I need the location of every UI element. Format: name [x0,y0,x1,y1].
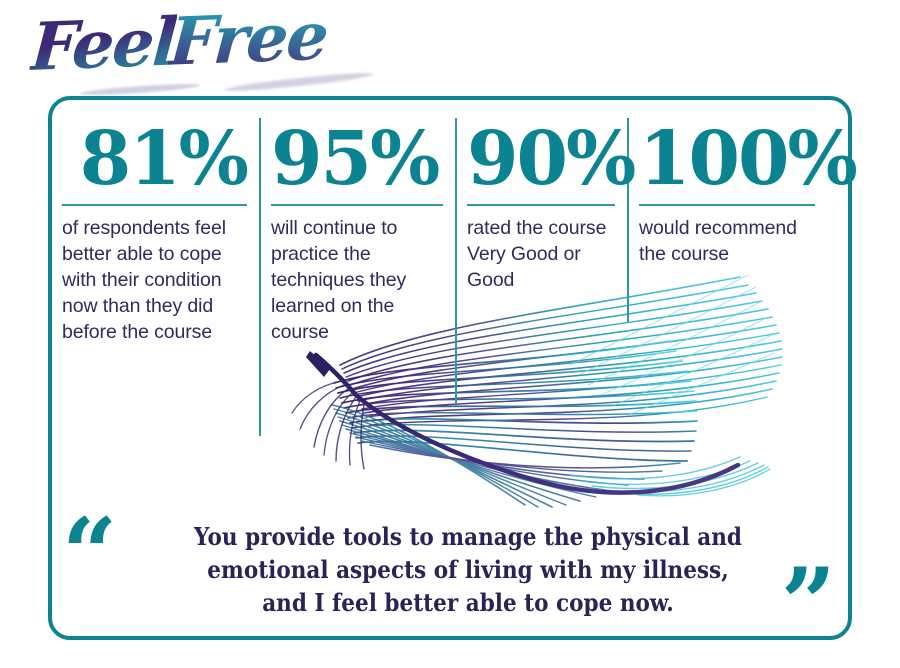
logo-word-feel: Feel [28,3,178,86]
stat-rule-4 [639,204,815,206]
stat-card-4: 100% would recommend the course [627,118,827,267]
stat-description-3: rated the course Very Good or Good [467,215,615,293]
stat-rule-1 [62,204,247,206]
quote-line-1: You provide tools to manage the physical… [186,520,749,553]
stat-description-4: would recommend the course [639,215,815,267]
stat-value-2: 95% [271,118,443,196]
stat-value-3: 90% [467,118,615,196]
quote-line-2: emotional aspects of living with my illn… [186,553,749,586]
brand-logo: FeelFree [28,0,388,100]
quote-open-mark: “ [62,506,117,602]
quote-text: You provide tools to manage the physical… [186,520,749,619]
quote-line-3: and I feel better able to cope now. [186,586,749,619]
stat-value-4: 100% [639,118,815,196]
stat-card-3: 90% rated the course Very Good or Good [455,118,627,293]
stat-description-2: will continue to practice the techniques… [271,215,443,345]
quote-close-mark: ” [781,556,836,652]
stat-card-1: 81% of respondents feel better able to c… [62,118,259,345]
statistics-row: 81% of respondents feel better able to c… [62,118,842,448]
stat-card-2: 95% will continue to practice the techni… [259,118,455,345]
testimonial-quote: “ You provide tools to manage the physic… [62,512,840,630]
stat-description-1: of respondents feel better able to cope … [62,215,247,345]
stat-value-1: 81% [62,118,247,196]
logo-word-free: Free [167,0,329,81]
logo-wordmark: FeelFree [28,0,330,92]
stat-rule-2 [271,204,443,206]
stat-rule-3 [467,204,615,206]
